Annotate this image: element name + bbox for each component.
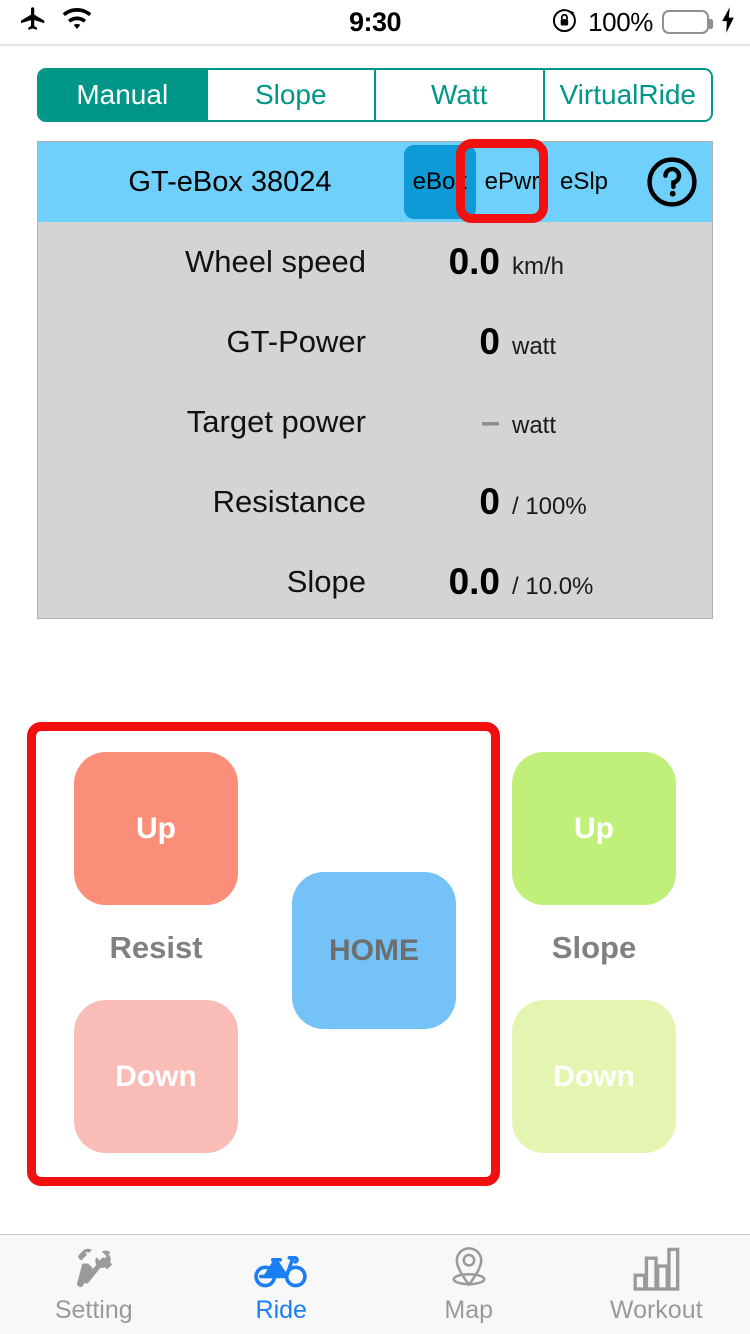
- slope-down-button[interactable]: Down: [512, 1000, 676, 1153]
- metric-label: Wheel speed: [60, 244, 390, 280]
- metric-row-wheel-speed: Wheel speed 0.0 km/h: [38, 222, 712, 302]
- resist-group-label: Resist: [74, 930, 238, 966]
- tab-virtualride[interactable]: VirtualRide: [545, 70, 712, 120]
- metric-row-slope: Slope 0.0 / 10.0%: [38, 542, 712, 622]
- tab-watt[interactable]: Watt: [376, 70, 545, 120]
- mode-tab-bar: Manual Slope Watt VirtualRide: [37, 68, 713, 122]
- slope-up-button[interactable]: Up: [512, 752, 676, 905]
- lightning-bolt-icon: [718, 6, 738, 39]
- resist-up-button[interactable]: Up: [74, 752, 238, 905]
- metric-row-target-power: Target power – watt: [38, 382, 712, 462]
- device-mode-eslp[interactable]: eSlp: [548, 145, 620, 219]
- device-mode-ebox[interactable]: eBox: [404, 145, 476, 219]
- bicycle-icon: [254, 1244, 308, 1292]
- battery-percent-label: 100%: [588, 7, 653, 38]
- device-mode-buttons: eBox ePwr eSlp: [404, 142, 620, 222]
- metric-unit: watt: [500, 333, 556, 361]
- tab-slope[interactable]: Slope: [208, 70, 377, 120]
- home-button[interactable]: HOME: [292, 872, 456, 1029]
- metric-value: 0.0: [390, 561, 500, 603]
- bottom-nav-bar: Setting Ride: [0, 1234, 750, 1334]
- status-bar: 9:30 100%: [0, 0, 750, 44]
- metric-unit: / 100%: [500, 493, 587, 521]
- battery-icon: [662, 10, 709, 34]
- nav-item-label: Workout: [610, 1296, 703, 1325]
- metrics-rows: Wheel speed 0.0 km/h GT-Power 0 watt Tar…: [38, 222, 712, 622]
- nav-item-map[interactable]: Map: [375, 1235, 563, 1334]
- metric-row-gt-power: GT-Power 0 watt: [38, 302, 712, 382]
- metric-unit: watt: [500, 412, 556, 440]
- nav-item-workout[interactable]: Workout: [563, 1235, 750, 1334]
- nav-item-label: Map: [444, 1296, 493, 1325]
- device-mode-epwr[interactable]: ePwr: [476, 145, 548, 219]
- bar-chart-icon: [631, 1244, 681, 1292]
- slope-group-label: Slope: [512, 930, 676, 966]
- nav-item-label: Setting: [55, 1296, 133, 1325]
- metrics-panel: GT-eBox 38024 eBox ePwr eSlp Wheel speed…: [37, 141, 713, 619]
- hammer-wrench-icon: [69, 1244, 119, 1292]
- metric-label: Slope: [60, 564, 390, 600]
- nav-item-label: Ride: [256, 1296, 307, 1325]
- metric-value: 0.0: [390, 241, 500, 283]
- metric-label: GT-Power: [60, 324, 390, 360]
- tab-manual[interactable]: Manual: [39, 70, 208, 120]
- status-bar-right: 100%: [551, 0, 738, 44]
- metric-unit: km/h: [500, 253, 564, 281]
- metric-unit: / 10.0%: [500, 573, 593, 601]
- app-screen: 9:30 100% Manual: [0, 0, 750, 1334]
- map-pin-icon: [445, 1244, 493, 1292]
- metric-label: Resistance: [60, 484, 390, 520]
- metric-value: –: [390, 403, 500, 442]
- nav-item-ride[interactable]: Ride: [188, 1235, 376, 1334]
- device-bar: GT-eBox 38024 eBox ePwr eSlp: [38, 142, 712, 222]
- metric-row-resistance: Resistance 0 / 100%: [38, 462, 712, 542]
- metric-label: Target power: [60, 404, 390, 440]
- resist-down-button[interactable]: Down: [74, 1000, 238, 1153]
- status-bar-divider: [0, 44, 750, 47]
- rotation-lock-icon: [551, 6, 579, 39]
- question-mark-circle-icon[interactable]: [644, 154, 700, 210]
- metric-value: 0: [390, 321, 500, 363]
- nav-item-setting[interactable]: Setting: [0, 1235, 188, 1334]
- metric-value: 0: [390, 481, 500, 523]
